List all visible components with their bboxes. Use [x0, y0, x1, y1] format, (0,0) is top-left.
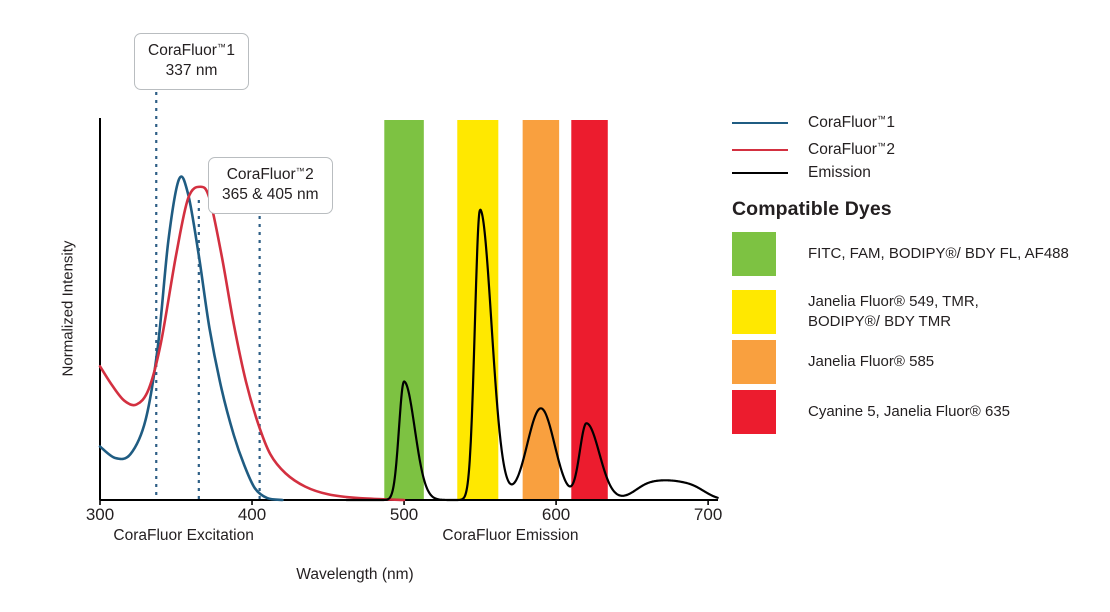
trademark-icon: ™ [877, 141, 887, 151]
marker-callout-corafluor1: CoraFluor™1 337 nm [134, 33, 249, 90]
legend-item-3[interactable]: Emission [732, 164, 871, 182]
marker-callout-corafluor1-value: 337 nm [148, 61, 235, 81]
yellow-band [457, 120, 498, 500]
trademark-icon: ™ [877, 114, 887, 124]
legend-panel: CoraFluor™1CoraFluor™2Emission Compatibl… [728, 0, 1110, 612]
dye-item-label: FITC, FAM, BODIPY®/ BDY FL, AF488 [808, 244, 1069, 264]
chart-figure: CoraFluor™1 337 nm CoraFluor™2 365 & 405… [0, 0, 1110, 612]
legend-swatch-line [732, 122, 788, 124]
marker-callout-corafluor2-value: 365 & 405 nm [222, 185, 319, 205]
x-tick-label-300: 300 [86, 505, 114, 525]
compatible-dyes-title: Compatible Dyes [732, 198, 892, 221]
dye-item-label: Janelia Fluor® 549, TMR, BODIPY®/ BDY TM… [808, 292, 979, 333]
legend-item-2[interactable]: CoraFluor™2 [732, 141, 895, 159]
series-corafluor2-curve [100, 187, 404, 500]
x-tick-label-600: 600 [542, 505, 570, 525]
plot-area: CoraFluor™1 337 nm CoraFluor™2 365 & 405… [0, 0, 740, 612]
dye-color-swatch [732, 340, 776, 384]
marker-callout-corafluor2: CoraFluor™2 365 & 405 nm [208, 157, 333, 214]
legend-item-label: CoraFluor™2 [808, 141, 895, 159]
legend-item-label: CoraFluor™1 [808, 114, 895, 132]
excitation-span-label: CoraFluor Excitation [113, 527, 253, 545]
dye-color-swatch [732, 290, 776, 334]
dye-item-1[interactable]: FITC, FAM, BODIPY®/ BDY FL, AF488 [732, 232, 1069, 276]
dye-item-label: Janelia Fluor® 585 [808, 352, 934, 372]
legend-swatch-line [732, 172, 788, 174]
dye-item-3[interactable]: Janelia Fluor® 585 [732, 340, 934, 384]
legend-item-1[interactable]: CoraFluor™1 [732, 114, 895, 132]
dye-item-label: Cyanine 5, Janelia Fluor® 635 [808, 402, 1010, 422]
legend-swatch-line [732, 149, 788, 151]
dye-item-4[interactable]: Cyanine 5, Janelia Fluor® 635 [732, 390, 1010, 434]
x-tick-label-700: 700 [694, 505, 722, 525]
trademark-icon: ™ [296, 166, 306, 176]
dye-color-swatch [732, 232, 776, 276]
marker-lines-group [156, 92, 259, 500]
marker-callout-corafluor2-title: CoraFluor™2 [222, 165, 319, 185]
y-axis-title: Normalized Intensity [60, 219, 77, 399]
marker-callout-corafluor1-title: CoraFluor™1 [148, 41, 235, 61]
red-band [571, 120, 607, 500]
trademark-icon: ™ [217, 42, 227, 52]
dye-color-swatch [732, 390, 776, 434]
series-corafluor1-curve [100, 176, 282, 500]
dye-item-2[interactable]: Janelia Fluor® 549, TMR, BODIPY®/ BDY TM… [732, 290, 979, 334]
x-tick-label-400: 400 [238, 505, 266, 525]
emission-span-label: CoraFluor Emission [442, 527, 578, 545]
legend-item-label: Emission [808, 164, 871, 182]
x-axis-title: Wavelength (nm) [296, 566, 413, 584]
x-tick-label-500: 500 [390, 505, 418, 525]
